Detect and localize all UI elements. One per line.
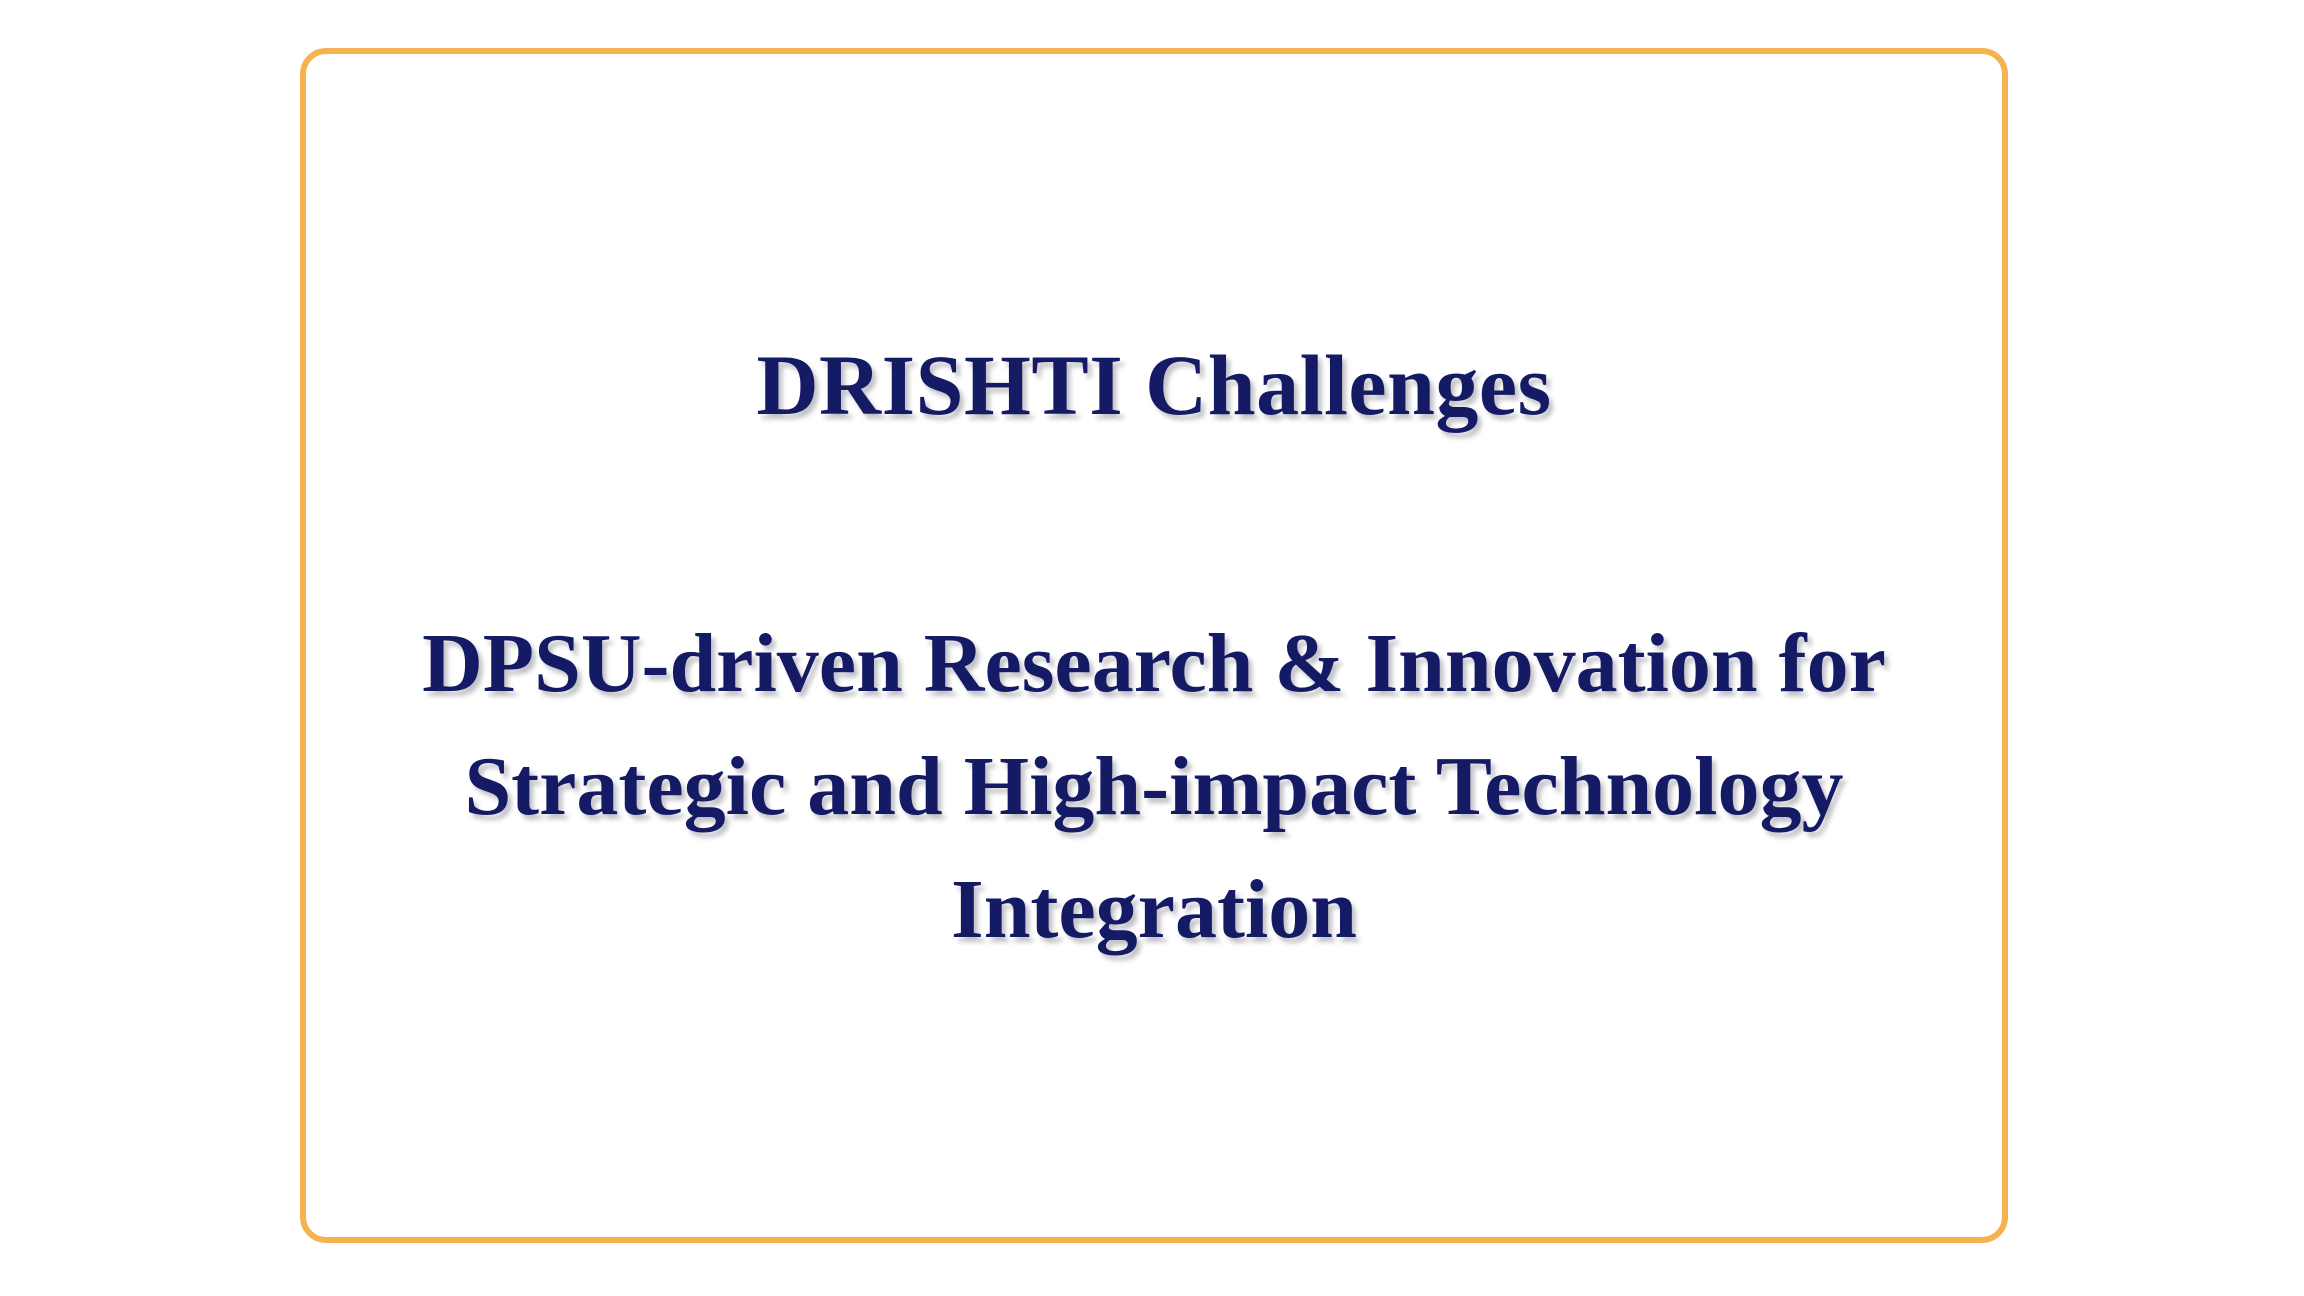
slide-content: DRISHTI Challenges DPSU-driven Research … xyxy=(306,54,2002,1237)
slide-title: DRISHTI Challenges xyxy=(306,342,2002,428)
slide-subtitle: DPSU-driven Research & Innovation for St… xyxy=(352,602,1956,971)
slide-canvas: DRISHTI Challenges DPSU-driven Research … xyxy=(0,0,2304,1296)
slide-border-frame: DRISHTI Challenges DPSU-driven Research … xyxy=(300,48,2008,1243)
